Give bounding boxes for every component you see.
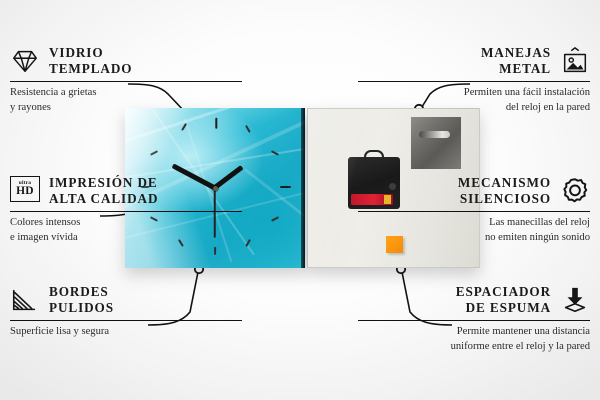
feature-subtitle: Las manecillas del reloj no emiten ningú… (358, 216, 590, 244)
hanging-loop (364, 150, 384, 162)
badge-hd-label: HD (16, 186, 34, 198)
feature-divider (358, 211, 590, 212)
feature-polished-edges: BORDES PULIDOS Superficie lisa y segura (10, 283, 242, 340)
feature-title: IMPRESIÓN DE ALTA CALIDAD (49, 175, 158, 206)
feature-divider (10, 211, 242, 212)
feature-divider (358, 81, 590, 82)
feature-subtitle: Superficie lisa y segura (10, 325, 242, 339)
feature-hd-print: ultra HD IMPRESIÓN DE ALTA CALIDAD Color… (10, 174, 242, 245)
feature-divider (10, 81, 242, 82)
feature-subtitle: Colores intensos e imagen vívida (10, 216, 242, 244)
feature-divider (10, 320, 242, 321)
feature-title: VIDRIO TEMPLADO (49, 45, 132, 76)
feature-metal-hangers: MANEJAS METAL Permiten una fácil instala… (358, 44, 590, 115)
gear-icon (560, 176, 590, 206)
hanger-slot (419, 131, 450, 138)
polished-edge-lines-icon (10, 285, 40, 315)
glass-edge (301, 108, 305, 268)
feature-foam-spacer: ESPACIADOR DE ESPUMA Permite mantener un… (358, 283, 590, 354)
arrow-down-stack-icon (560, 285, 590, 315)
feature-title: MANEJAS METAL (481, 45, 551, 76)
tick-mark (245, 125, 251, 133)
feature-silent-mechanism: MECANISMO SILENCIOSO Las manecillas del … (358, 174, 590, 245)
feature-divider (358, 320, 590, 321)
feature-subtitle: Permiten una fácil instalación del reloj… (358, 86, 590, 114)
ultra-hd-badge-icon: ultra HD (10, 176, 40, 206)
tick-mark (280, 186, 291, 188)
feature-title: BORDES PULIDOS (49, 284, 114, 315)
feature-subtitle: Permite mantener una distancia uniforme … (358, 325, 590, 353)
feature-tempered-glass: VIDRIO TEMPLADO Resistencia a grietas y … (10, 44, 242, 115)
feature-subtitle: Resistencia a grietas y rayones (10, 86, 242, 114)
metal-hanger-plate (411, 117, 461, 169)
infographic-canvas: VIDRIO TEMPLADO Resistencia a grietas y … (0, 0, 600, 400)
feature-title: MECANISMO SILENCIOSO (458, 175, 551, 206)
feature-title: ESPACIADOR DE ESPUMA (456, 284, 551, 315)
tick-mark (215, 118, 217, 129)
tick-mark (271, 216, 279, 221)
tick-mark (214, 247, 216, 255)
wall-frame-hanger-icon (560, 46, 590, 76)
tick-mark (150, 150, 158, 155)
diamond-icon (10, 46, 40, 76)
